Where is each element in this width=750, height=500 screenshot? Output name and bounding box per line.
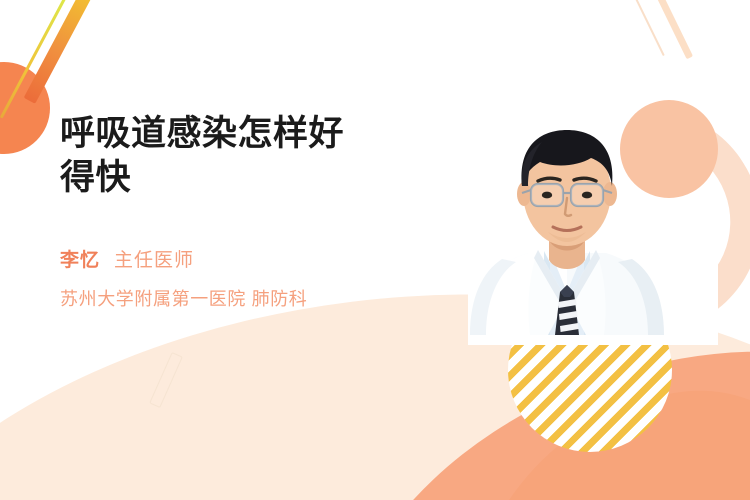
doctor-name: 李忆 [60,245,100,272]
yellow-diagonal-stripe [0,0,67,119]
outlined-diagonal-stripe [149,352,183,408]
doctor-rank: 主任医师 [114,245,194,272]
doctor-affiliation: 苏州大学附属第一医院 肺防科 [60,285,460,311]
page-title: 呼吸道感染怎样好 得快 [60,112,460,200]
orange-circle [0,62,50,154]
doctor-byline: 李忆 主任医师 [60,245,460,272]
promo-card: 呼吸道感染怎样好 得快 李忆 主任医师 苏州大学附属第一医院 肺防科 [0,0,750,500]
text-block: 呼吸道感染怎样好 得快 李忆 主任医师 苏州大学附属第一医院 肺防科 [60,112,460,311]
orange-diagonal-stripe [24,0,94,104]
doctor-portrait [452,120,682,335]
faint-peach-stripe [650,0,693,59]
mid-peach-wave [435,374,750,500]
faint-peach-stripe-thin [625,0,664,56]
